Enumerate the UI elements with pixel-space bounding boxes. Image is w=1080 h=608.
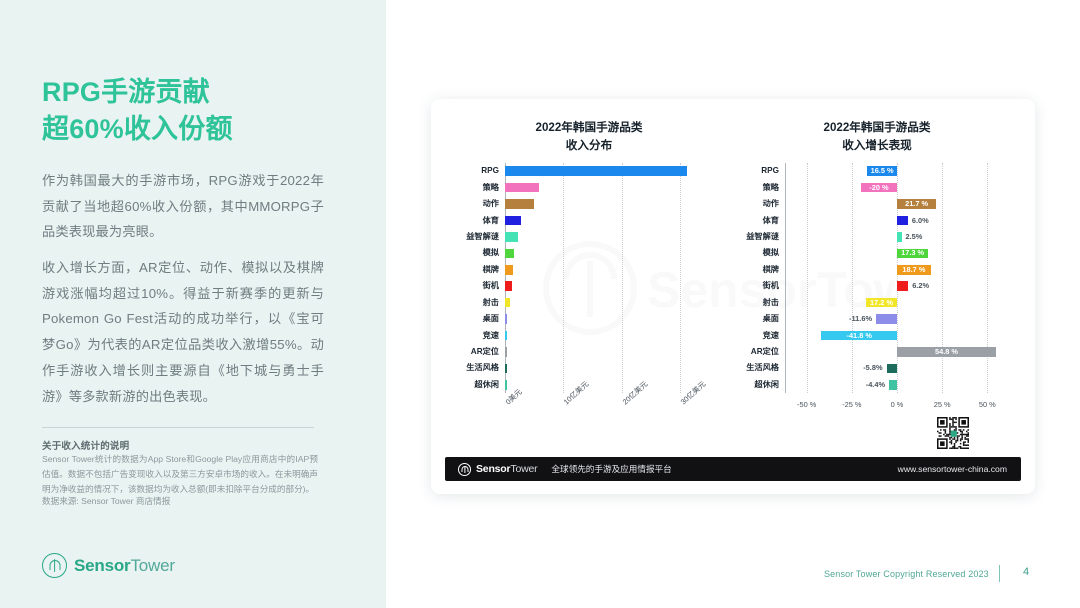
category-label: 模拟 bbox=[445, 249, 499, 257]
category-label: 超休闲 bbox=[445, 381, 499, 389]
bar bbox=[505, 364, 507, 374]
bar bbox=[505, 232, 518, 242]
category-label: 策略 bbox=[445, 184, 499, 192]
chart-left-title-line2: 收入分布 bbox=[566, 139, 612, 152]
chart-revenue-distribution: 2022年韩国手游品类 收入分布 0美元10亿美元20亿美元30亿美元RPG策略… bbox=[445, 113, 733, 449]
footer-brand-light: Tower bbox=[510, 463, 537, 475]
bar bbox=[897, 232, 902, 242]
bar-value-label: 17.2 % bbox=[866, 299, 897, 306]
note-title: 关于收入统计的说明 bbox=[42, 438, 129, 452]
brand-light-text: Tower bbox=[130, 556, 174, 575]
category-label: 竞速 bbox=[445, 332, 499, 340]
axis-tick-label: 10亿美元 bbox=[561, 379, 591, 408]
axis-tick-label: -50 % bbox=[797, 400, 816, 409]
brand-bold-text: Sensor bbox=[74, 556, 130, 575]
gridline bbox=[680, 163, 681, 393]
bar bbox=[505, 183, 539, 193]
category-label: 生活风格 bbox=[733, 364, 779, 372]
bar bbox=[897, 216, 908, 226]
bar-value-label: 6.2% bbox=[912, 282, 929, 289]
axis-tick-label: 25 % bbox=[934, 400, 951, 409]
right-area: SensorTower 2022年韩国手游品类 收入分布 0美元10亿美元20亿… bbox=[386, 0, 1080, 608]
bar bbox=[505, 331, 507, 341]
footer-url[interactable]: www.sensortower-china.com bbox=[898, 464, 1007, 474]
category-label: 益智解谜 bbox=[445, 233, 499, 241]
gridline bbox=[563, 163, 564, 393]
bar-value-label: 6.0% bbox=[912, 217, 929, 224]
bar bbox=[505, 265, 513, 275]
footer-brand-bold: Sensor bbox=[476, 463, 510, 475]
chart-left-title-line1: 2022年韩国手游品类 bbox=[536, 121, 643, 134]
category-label: 模拟 bbox=[733, 249, 779, 257]
body-paragraph-1: 作为韩国最大的手游市场，RPG游戏于2022年贡献了当地超60%收入份额，其中M… bbox=[42, 168, 324, 245]
category-label: AR定位 bbox=[733, 348, 779, 356]
footer-divider bbox=[999, 565, 1000, 582]
chart-right-title-line2: 收入增长表现 bbox=[842, 139, 912, 152]
bar bbox=[505, 249, 514, 259]
bar bbox=[505, 298, 510, 308]
headline-line-1: RPG手游贡献 bbox=[42, 77, 210, 107]
note-divider bbox=[42, 427, 314, 428]
category-label: AR定位 bbox=[445, 348, 499, 356]
category-label: 体育 bbox=[733, 217, 779, 225]
gridline bbox=[897, 163, 898, 393]
bar bbox=[505, 166, 687, 176]
note-source: 数据来源: Sensor Tower 商店情报 bbox=[42, 495, 170, 507]
bar-value-label: 2.5% bbox=[906, 233, 923, 240]
bar-value-label: 54.8 % bbox=[897, 348, 996, 355]
bar-value-label: 17.3 % bbox=[897, 249, 928, 256]
footer-brand-wordmark: SensorTower bbox=[476, 463, 537, 475]
gridline bbox=[807, 163, 808, 393]
chart-left-plot: 0美元10亿美元20亿美元30亿美元RPG策略动作体育益智解谜模拟棋牌街机射击桌… bbox=[445, 163, 733, 393]
axis-tick-label: 0 % bbox=[891, 400, 904, 409]
charts-container: SensorTower 2022年韩国手游品类 收入分布 0美元10亿美元20亿… bbox=[445, 113, 1021, 449]
bar-value-label: -5.8% bbox=[853, 364, 883, 371]
axis-tick-label: 30亿美元 bbox=[678, 379, 708, 408]
category-label: 益智解谜 bbox=[733, 233, 779, 241]
bar bbox=[897, 281, 908, 291]
chart-right-plot: -50 %-25 %0 %25 %50 %RPG16.5 %策略-20 %动作2… bbox=[733, 163, 1021, 393]
gridline bbox=[852, 163, 853, 393]
category-label: 动作 bbox=[445, 200, 499, 208]
axis-tick-label: -25 % bbox=[842, 400, 861, 409]
bar-value-label: -11.6% bbox=[842, 315, 872, 322]
brand-logo: SensorTower bbox=[42, 553, 175, 578]
chart-right-title-line1: 2022年韩国手游品类 bbox=[824, 121, 931, 134]
note-body: Sensor Tower统计的数据为App Store和Google Play应… bbox=[42, 452, 318, 496]
bar-value-label: 21.7 % bbox=[897, 200, 936, 207]
category-label: 街机 bbox=[445, 282, 499, 290]
bar-value-label: 16.5 % bbox=[867, 167, 897, 174]
bar bbox=[505, 281, 512, 291]
chart-revenue-growth: 2022年韩国手游品类 收入增长表现 -50 %-25 %0 %25 %50 %… bbox=[733, 113, 1021, 449]
bar bbox=[505, 380, 507, 390]
gridline bbox=[622, 163, 623, 393]
gridline bbox=[942, 163, 943, 393]
axis-tick-label: 50 % bbox=[979, 400, 996, 409]
category-label: 射击 bbox=[733, 299, 779, 307]
category-label: 动作 bbox=[733, 200, 779, 208]
category-label: RPG bbox=[733, 167, 779, 175]
bar-value-label: -41.8 % bbox=[821, 332, 897, 339]
category-label: 体育 bbox=[445, 217, 499, 225]
axis-spine bbox=[505, 163, 506, 393]
category-label: 桌面 bbox=[445, 315, 499, 323]
chart-card: SensorTower 2022年韩国手游品类 收入分布 0美元10亿美元20亿… bbox=[431, 99, 1035, 494]
copyright-text: Sensor Tower Copyright Reserved 2023 bbox=[824, 569, 989, 579]
chart-left-title: 2022年韩国手游品类 收入分布 bbox=[445, 119, 733, 155]
category-label: 生活风格 bbox=[445, 364, 499, 372]
bar-value-label: -4.4% bbox=[855, 381, 885, 388]
page-title: RPG手游贡献 超60%收入份额 bbox=[42, 74, 342, 147]
bar-value-label: -20 % bbox=[861, 184, 897, 191]
bar bbox=[505, 347, 507, 357]
brand-wordmark: SensorTower bbox=[74, 556, 175, 576]
category-label: 射击 bbox=[445, 299, 499, 307]
category-label: 策略 bbox=[733, 184, 779, 192]
card-footer-bar: SensorTower 全球领先的手游及应用情报平台 www.sensortow… bbox=[445, 457, 1021, 481]
category-label: 桌面 bbox=[733, 315, 779, 323]
footer-tagline: 全球领先的手游及应用情报平台 bbox=[551, 463, 671, 475]
qr-code bbox=[936, 416, 970, 450]
gridline bbox=[987, 163, 988, 393]
bar-value-label: 18.7 % bbox=[897, 266, 931, 273]
bar bbox=[876, 314, 897, 324]
category-label: RPG bbox=[445, 167, 499, 175]
bar bbox=[889, 380, 897, 390]
headline-line-2: 超60%收入份额 bbox=[42, 111, 342, 148]
bar bbox=[505, 199, 534, 209]
bar bbox=[505, 314, 507, 324]
chart-right-title: 2022年韩国手游品类 收入增长表现 bbox=[733, 119, 1021, 155]
category-label: 棋牌 bbox=[733, 266, 779, 274]
bar bbox=[887, 364, 897, 374]
axis-spine bbox=[785, 163, 786, 393]
category-label: 街机 bbox=[733, 282, 779, 290]
sensor-tower-icon-footer bbox=[458, 463, 471, 476]
bar bbox=[505, 216, 521, 226]
left-panel: RPG手游贡献 超60%收入份额 作为韩国最大的手游市场，RPG游戏于2022年… bbox=[0, 0, 386, 608]
sensor-tower-icon bbox=[42, 553, 67, 578]
axis-tick-label: 20亿美元 bbox=[620, 379, 650, 408]
body-paragraph-2: 收入增长方面，AR定位、动作、模拟以及棋牌游戏涨幅均超过10%。得益于新赛季的更… bbox=[42, 255, 324, 409]
page-number: 4 bbox=[1023, 566, 1029, 578]
category-label: 棋牌 bbox=[445, 266, 499, 274]
category-label: 竞速 bbox=[733, 332, 779, 340]
slide-page: RPG手游贡献 超60%收入份额 作为韩国最大的手游市场，RPG游戏于2022年… bbox=[0, 0, 1080, 608]
category-label: 超休闲 bbox=[733, 381, 779, 389]
